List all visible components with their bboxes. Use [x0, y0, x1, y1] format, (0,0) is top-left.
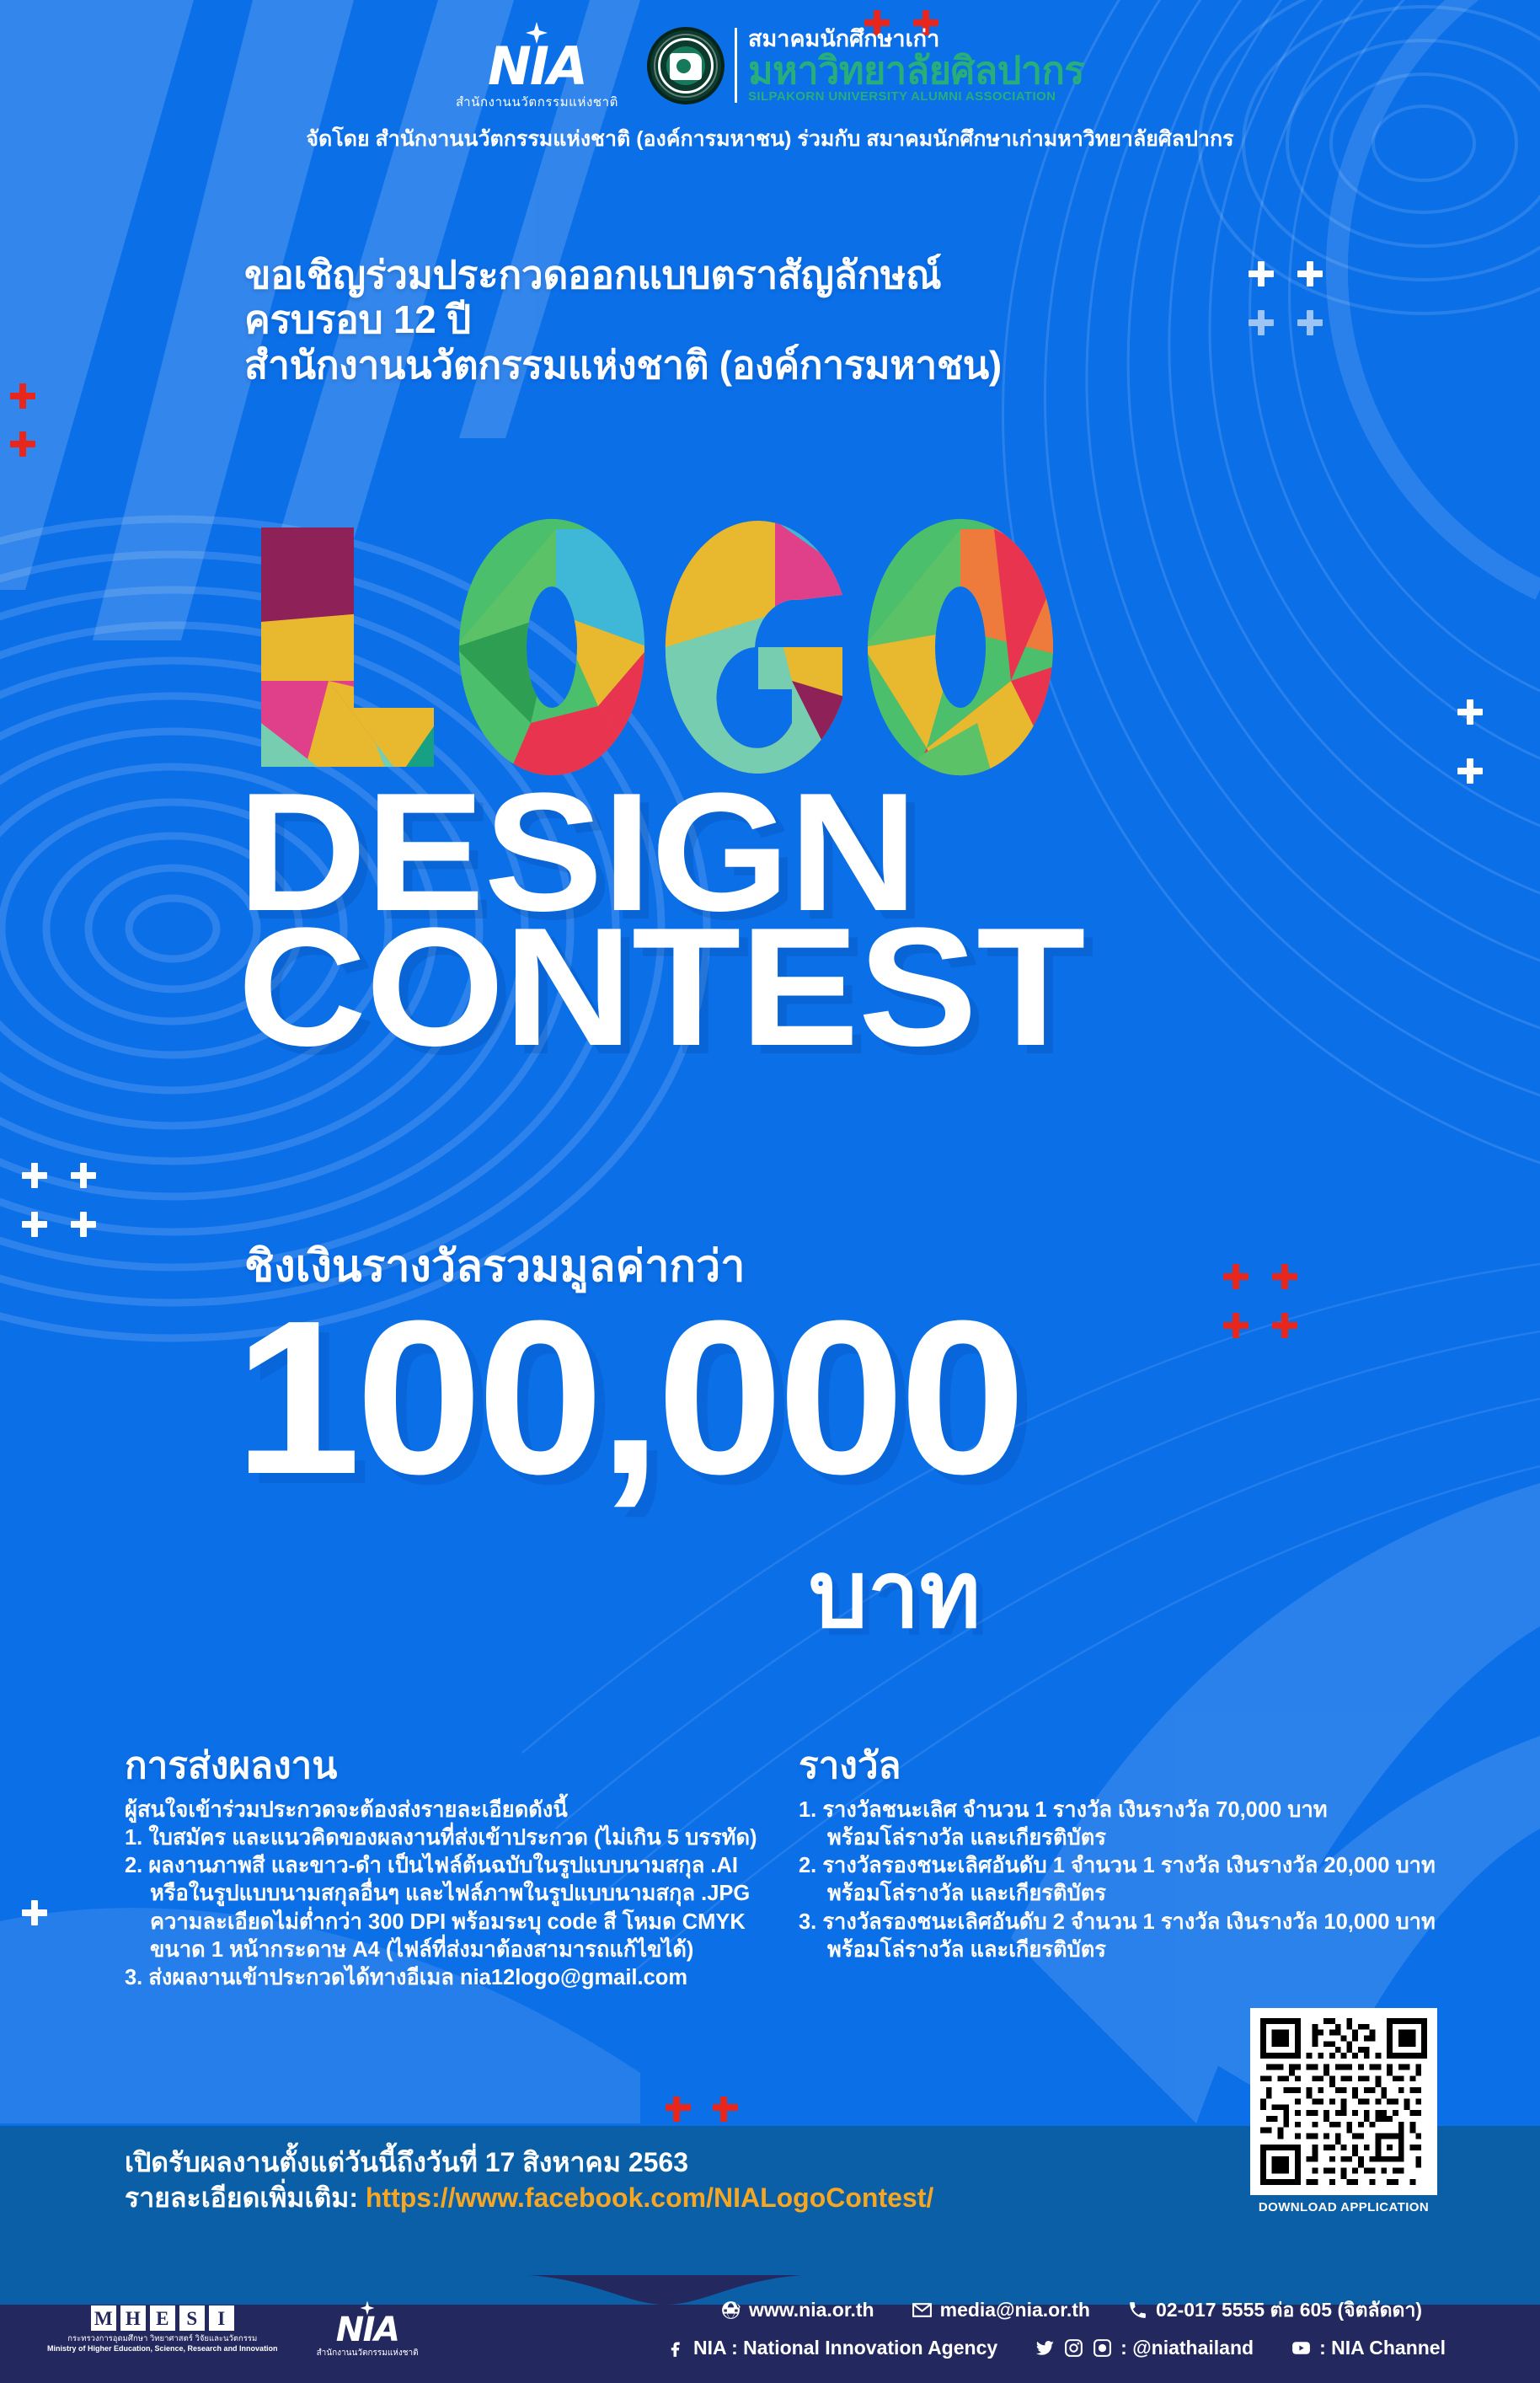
plus-decoration	[1297, 310, 1323, 335]
mhesi-logo: M H E S I กระทรวงการอุดมศึกษา วิทยาศาสตร…	[47, 2305, 278, 2353]
submission-intro: ผู้สนใจเข้าร่วมประกวดจะต้องส่งรายละเอียด…	[125, 1797, 790, 1824]
prize-amount: 100,000	[234, 1298, 1021, 1499]
qr-code-block: DOWNLOAD APPLICATION	[1250, 2008, 1437, 2214]
plus-decoration	[10, 431, 35, 457]
phone-icon	[1127, 2300, 1148, 2321]
award-item: 2. รางวัลรองชนะเลิศอันดับ 1 จำนวน 1 รางว…	[799, 1852, 1489, 1880]
plus-decoration	[22, 1212, 47, 1237]
twitter-icon	[1035, 2337, 1056, 2359]
award-3-line-2: พร้อมโล่รางวัล และเกียรติบัตร	[799, 1936, 1489, 1964]
mhesi-letter: I	[209, 2305, 234, 2331]
footer-contact: www.nia.or.th media@nia.or.th 02-017 555…	[665, 2300, 1474, 2359]
title-contest: CONTEST	[238, 920, 1084, 1055]
mhesi-letter: M	[91, 2305, 116, 2331]
plus-decoration	[1249, 310, 1274, 335]
plus-decoration	[1457, 758, 1483, 784]
logo-row: NIA สำนักงานนวัตกรรมแห่งชาติ สมาคมนักศึก…	[0, 22, 1540, 109]
plus-decoration	[22, 1163, 47, 1188]
poster-footer: M H E S I กระทรวงการอุดมศึกษา วิทยาศาสตร…	[0, 2275, 1540, 2383]
nia-logo-subtitle: สำนักงานนวัตกรรมแห่งชาติ	[456, 96, 618, 109]
plus-decoration	[1223, 1313, 1249, 1338]
plus-decoration	[713, 2097, 735, 2118]
footer-youtube-text: : NIA Channel	[1319, 2337, 1446, 2358]
footer-logos: M H E S I กระทรวงการอุดมศึกษา วิทยาศาสตร…	[47, 2300, 419, 2358]
qr-code-svg	[1260, 2018, 1427, 2185]
organizer-line: จัดโดย สำนักงานนวัตกรรมแห่งชาติ (องค์การ…	[0, 122, 1540, 156]
qr-code-caption: DOWNLOAD APPLICATION	[1250, 2200, 1437, 2214]
headline-block: ขอเชิญร่วมประกวดออกแบบตราสัญลักษณ์ ครบรอ…	[244, 253, 1002, 388]
plus-decoration	[71, 1163, 96, 1188]
submission-item-3-label: 3. ส่งผลงานเข้าประกวดได้ทางอีเมล	[125, 1966, 460, 1989]
award-2-line-2: พร้อมโล่รางวัล และเกียรติบัตร	[799, 1880, 1489, 1908]
plus-decoration	[1457, 699, 1483, 725]
nia-logo-wordmark: NIA	[488, 40, 586, 93]
footer-social-handles[interactable]: : @niathailand	[1035, 2337, 1254, 2359]
footer-phone: 02-017 5555 ต่อ 605 (จิตลัดดา)	[1127, 2300, 1422, 2321]
silpakorn-logo-block: สมาคมนักศึกษาเก่า มหาวิทยาลัยศิลปากร SIL…	[647, 27, 1084, 104]
youtube-icon	[1291, 2337, 1312, 2359]
instagram-icon	[1063, 2337, 1084, 2359]
deadline-band-text: เปิดรับผลงานตั้งแต่วันนี้ถึงวันที่ 17 สิ…	[125, 2145, 933, 2215]
contest-url-link[interactable]: https://www.facebook.com/NIALogoContest/	[366, 2182, 933, 2213]
mhesi-letter: H	[120, 2305, 146, 2331]
more-info-line: รายละเอียดเพิ่มเติม: https://www.faceboo…	[125, 2181, 933, 2216]
footer-email[interactable]: media@nia.or.th	[912, 2300, 1090, 2321]
mhesi-letters: M H E S I	[91, 2305, 234, 2331]
plus-decoration	[666, 2097, 687, 2118]
submission-heading: การส่งผลงาน	[125, 1736, 790, 1795]
headline-line-1: ขอเชิญร่วมประกวดออกแบบตราสัญลักษณ์	[244, 253, 1002, 297]
plus-decoration	[1272, 1313, 1297, 1338]
plus-decoration	[1223, 1264, 1249, 1289]
headline-line-2: ครบรอบ 12 ปี	[244, 297, 1002, 342]
submission-item-1: 1. ใบสมัคร และแนวคิดของผลงานที่ส่งเข้าปร…	[125, 1824, 790, 1852]
award-3-amount: 10,000 บาท	[1323, 1910, 1435, 1934]
silpakorn-line1: สมาคมนักศึกษาเก่า	[748, 28, 1084, 51]
awards-column: รางวัล 1. รางวัลชนะเลิศ จำนวน 1 รางวัล เ…	[799, 1736, 1489, 1992]
prize-currency: บาท	[809, 1549, 981, 1641]
silpakorn-text-block: สมาคมนักศึกษาเก่า มหาวิทยาลัยศิลปากร SIL…	[735, 28, 1084, 103]
submission-item-2-line-4: ขนาด 1 หน้ากระดาษ A4 (ไฟล์ที่ส่งมาต้องสา…	[125, 1936, 790, 1964]
footer-nia-wordmark: NIA	[336, 2313, 399, 2347]
mhesi-thai-name: กระทรวงการอุดมศึกษา วิทยาศาสตร์ วิจัยและ…	[67, 2335, 257, 2343]
submission-item-3: 3. ส่งผลงานเข้าประกวดได้ทางอีเมล nia12lo…	[125, 1964, 790, 1992]
award-2-amount: 20,000 บาท	[1323, 1854, 1435, 1877]
headline-line-3: สำนักงานนวัตกรรมแห่งชาติ (องค์การมหาชน)	[244, 343, 1002, 388]
footer-contact-row-1: www.nia.or.th media@nia.or.th 02-017 555…	[665, 2300, 1474, 2321]
submission-item-2-line-1: 2. ผลงานภาพสี และขาว-ดำ เป็นไฟล์ต้นฉบับใ…	[125, 1852, 790, 1880]
design-contest-title: DESIGN CONTEST	[238, 785, 1037, 1055]
mhesi-english-name: Ministry of Higher Education, Science, R…	[47, 2345, 278, 2353]
submission-email[interactable]: nia12logo@gmail.com	[460, 1966, 687, 1989]
footer-content: M H E S I กระทรวงการอุดมศึกษา วิทยาศาสตร…	[0, 2275, 1540, 2383]
poster-header: NIA สำนักงานนวัตกรรมแห่งชาติ สมาคมนักศึก…	[0, 22, 1540, 156]
footer-website-text: www.nia.or.th	[749, 2300, 874, 2320]
plus-decoration	[1249, 261, 1274, 286]
submission-column: การส่งผลงาน ผู้สนใจเข้าร่วมประกวดจะต้องส…	[125, 1736, 790, 1992]
nia-logo: NIA สำนักงานนวัตกรรมแห่งชาติ	[456, 22, 618, 109]
award-2-text: 2. รางวัลรองชนะเลิศอันดับ 1 จำนวน 1 รางว…	[799, 1854, 1323, 1877]
silpakorn-line2: มหาวิทยาลัยศิลปากร	[748, 51, 1084, 90]
plus-decoration	[71, 1212, 96, 1237]
submission-item-2-line-2: หรือในรูปแบบนามสกุลอื่นๆ และไฟล์ภาพในรูป…	[125, 1880, 790, 1908]
mhesi-letter: E	[150, 2305, 175, 2331]
award-1-text: 1. รางวัลชนะเลิศ จำนวน 1 รางวัล เงินรางว…	[799, 1798, 1216, 1822]
award-3-text: 3. รางวัลรองชนะเลิศอันดับ 2 จำนวน 1 รางว…	[799, 1910, 1323, 1934]
award-1-line-2: พร้อมโล่รางวัล และเกียรติบัตร	[799, 1824, 1489, 1852]
globe-icon	[720, 2300, 741, 2321]
footer-phone-text: 02-017 5555 ต่อ 605 (จิตลัดดา)	[1156, 2300, 1422, 2320]
silpakorn-seal-icon	[647, 27, 725, 104]
award-item: 1. รางวัลชนะเลิศ จำนวน 1 รางวัล เงินรางว…	[799, 1797, 1489, 1824]
footer-email-text: media@nia.or.th	[940, 2300, 1090, 2320]
more-info-label: รายละเอียดเพิ่มเติม:	[125, 2182, 366, 2213]
footer-youtube[interactable]: : NIA Channel	[1291, 2337, 1446, 2359]
silpakorn-line3: SILPAKORN UNIVERSITY ALUMNI ASSOCIATION	[748, 90, 1084, 103]
facebook-icon	[665, 2337, 686, 2359]
footer-website[interactable]: www.nia.or.th	[720, 2300, 874, 2321]
award-item: 3. รางวัลรองชนะเลิศอันดับ 2 จำนวน 1 รางว…	[799, 1909, 1489, 1936]
plus-decoration	[1272, 1264, 1297, 1289]
logo-wordmark-graphic	[253, 512, 1061, 782]
footer-contact-row-2: NIA : National Innovation Agency : @niat…	[665, 2337, 1474, 2359]
qr-code-image[interactable]	[1250, 2008, 1437, 2195]
line-app-icon	[1092, 2337, 1113, 2359]
poster-root: NIA สำนักงานนวัตกรรมแห่งชาติ สมาคมนักศึก…	[0, 0, 1540, 2383]
plus-decoration	[10, 383, 35, 409]
logo-wordmark-svg	[253, 512, 1061, 782]
footer-nia-logo: NIA สำนักงานนวัตกรรมแห่งชาติ	[317, 2300, 419, 2358]
plus-decoration	[1297, 261, 1323, 286]
footer-nia-subtitle: สำนักงานนวัตกรรมแห่งชาติ	[317, 2349, 419, 2358]
award-1-amount: 70,000 บาท	[1216, 1798, 1327, 1822]
footer-facebook[interactable]: NIA : National Innovation Agency	[665, 2337, 997, 2359]
submission-item-2-line-3: ความละเอียดไม่ต่ำกว่า 300 DPI พร้อมระบุ …	[125, 1909, 790, 1936]
awards-heading: รางวัล	[799, 1736, 1489, 1795]
envelope-icon	[912, 2300, 933, 2321]
details-columns: การส่งผลงาน ผู้สนใจเข้าร่วมประกวดจะต้องส…	[0, 1736, 1540, 1992]
footer-social-handle-text: : @niathailand	[1120, 2337, 1254, 2358]
deadline-text: เปิดรับผลงานตั้งแต่วันนี้ถึงวันที่ 17 สิ…	[125, 2145, 933, 2181]
mhesi-letter: S	[179, 2305, 205, 2331]
footer-facebook-text: NIA : National Innovation Agency	[693, 2337, 997, 2358]
